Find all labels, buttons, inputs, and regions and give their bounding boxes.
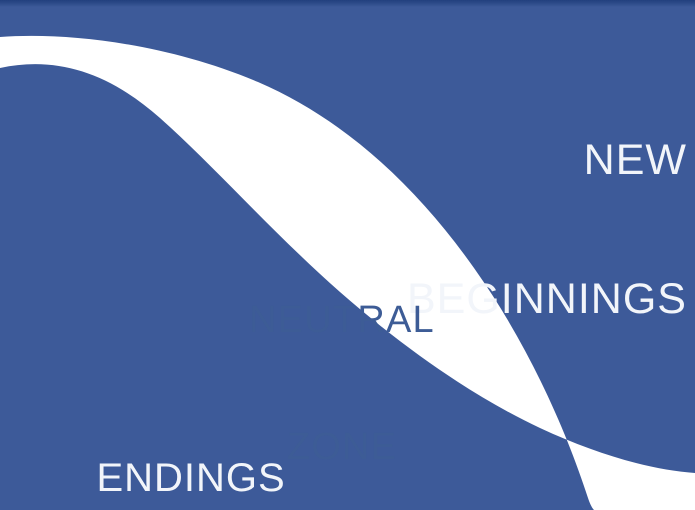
label-endings: ENDINGS (48, 414, 286, 510)
diagram-canvas: NEW BEGINNINGS NEUTRAL ZONE ENDINGS (0, 0, 695, 510)
label-endings-line1: ENDINGS (96, 456, 285, 500)
label-new-beginnings-line1: NEW (407, 137, 687, 183)
label-neutral-zone-line1: NEUTRAL (232, 300, 452, 341)
